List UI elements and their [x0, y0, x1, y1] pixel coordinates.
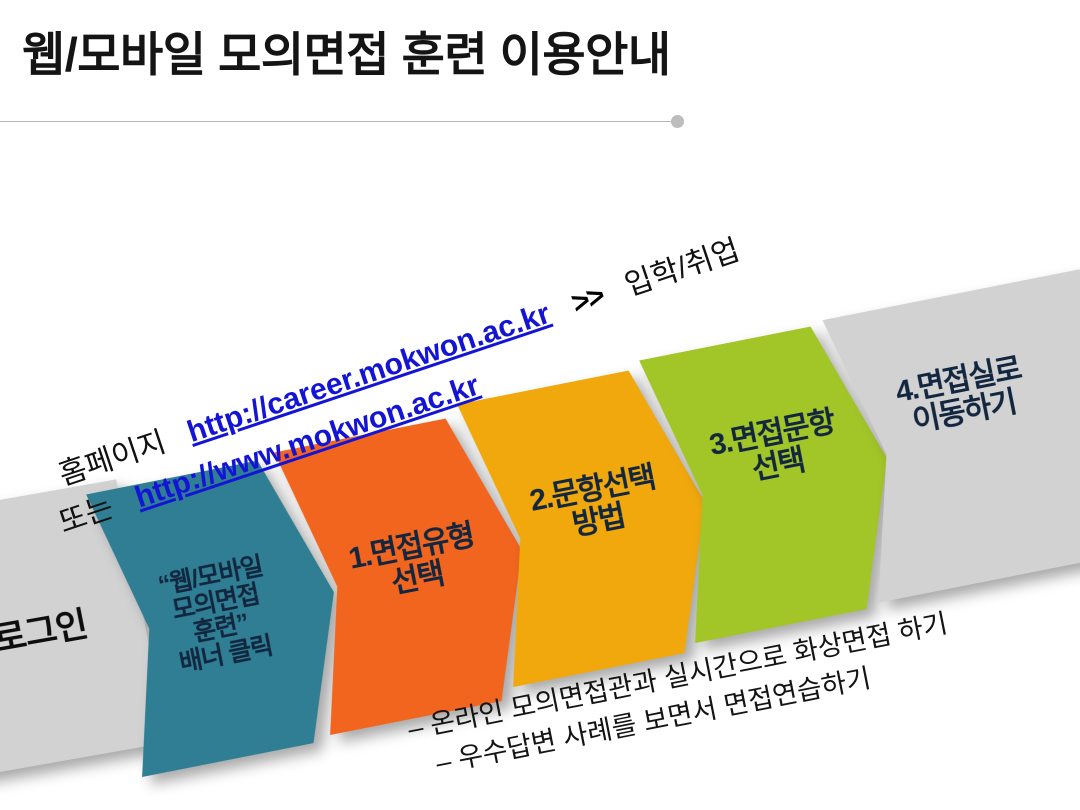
menu-path-label: 입학/취업: [621, 234, 744, 303]
double-chevron-right-icon: >>: [568, 279, 608, 320]
slide-canvas: 웹/모바일 모의면접 훈련 이용안내 로그인 “웹/모바일 모의면접 훈련” 배…: [0, 0, 1080, 810]
process-flow-diagram: 로그인 “웹/모바일 모의면접 훈련” 배너 클릭 1.면접유형 선택 2.문항…: [0, 0, 1080, 810]
